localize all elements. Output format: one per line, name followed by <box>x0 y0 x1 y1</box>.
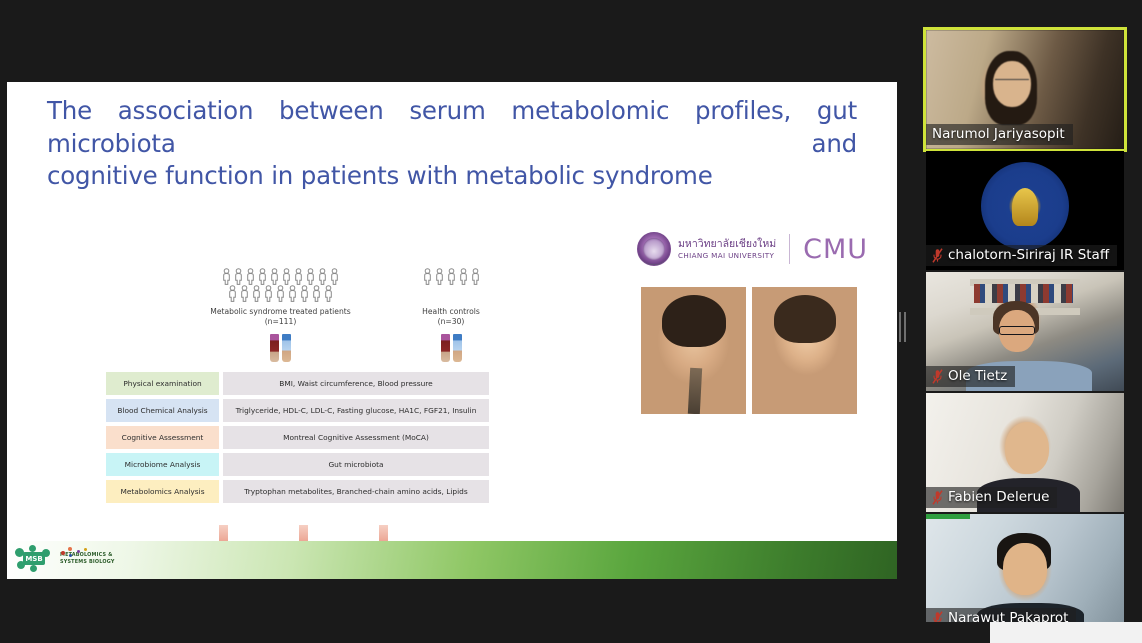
participant-name: chalotorn-Siriraj IR Staff <box>948 247 1109 263</box>
siriraj-seal-icon <box>981 162 1069 250</box>
slide-title: The association between serum metabolomi… <box>47 95 857 193</box>
bottom-strip <box>760 622 1142 643</box>
people-icons-row-2 <box>203 285 358 302</box>
person-icon <box>257 268 268 285</box>
table-cell-category: Physical examination <box>106 372 219 395</box>
person-icon <box>269 268 280 285</box>
person-icon <box>323 285 334 302</box>
mic-muted-icon <box>932 490 943 505</box>
msb-dots-icon <box>59 547 89 557</box>
participant-tile-narawut-pakaprot[interactable]: Narawut Pakaprot <box>926 514 1124 633</box>
nameplate: Narumol Jariyasopit <box>926 124 1073 145</box>
table-cell-category: Microbiome Analysis <box>106 453 219 476</box>
person-icon <box>263 285 274 302</box>
cohort-metabolic-syndrome: Metabolic syndrome treated patients (n=1… <box>203 268 358 362</box>
table-cell-category: Metabolomics Analysis <box>106 480 219 503</box>
cohort-name: Health controls <box>422 307 480 316</box>
table-row: Metabolomics AnalysisTryptophan metaboli… <box>106 480 489 503</box>
portrait-photo-2 <box>752 287 857 414</box>
mic-muted-icon <box>932 248 943 263</box>
person-icon <box>311 285 322 302</box>
cohort-label: Metabolic syndrome treated patients (n=1… <box>203 307 358 328</box>
msb-molecule-icon: MSB <box>15 545 57 573</box>
cohort-count: (n=111) <box>265 317 297 326</box>
participant-tile-ole-tietz[interactable]: Ole Tietz <box>926 272 1124 391</box>
blood-tube-icons <box>411 334 491 362</box>
person-icon <box>317 268 328 285</box>
mic-muted-icon <box>932 369 943 384</box>
msb-line-2: SYSTEMS BIOLOGY <box>60 559 115 566</box>
msb-badge: MSB <box>23 552 45 565</box>
person-icon <box>227 285 238 302</box>
blood-tube-icons <box>203 334 358 362</box>
person-icon <box>470 268 481 285</box>
cmu-thai-name: มหาวิทยาลัยเชียงใหม่ <box>678 238 776 250</box>
presentation-slide: The association between serum metabolomi… <box>7 82 897 579</box>
table-row: Microbiome AnalysisGut microbiota <box>106 453 489 476</box>
researcher-portraits <box>641 287 857 414</box>
portrait-2-hair <box>774 295 836 343</box>
person-icon <box>299 285 310 302</box>
cohort-label: Health controls (n=30) <box>411 307 491 328</box>
people-icons-row-1 <box>411 268 491 285</box>
participant-name: Fabien Delerue <box>948 489 1049 505</box>
video-conference-window: The association between serum metabolomi… <box>0 0 1142 643</box>
slide-footer-bar: MSB METABOLOMICS & SYSTEMS BIOLOGY <box>7 541 897 579</box>
portrait-1-hair <box>662 295 726 347</box>
nameplate: Ole Tietz <box>926 366 1015 387</box>
table-cell-value: Gut microbiota <box>223 453 489 476</box>
bottom-strip-dark-block <box>760 622 990 643</box>
participant-strip[interactable]: Narumol Jariyasopit chalotorn-Siriraj IR… <box>926 30 1126 635</box>
person-icon <box>422 268 433 285</box>
table-row: Cognitive AssessmentMontreal Cognitive A… <box>106 426 489 449</box>
participant-tile-narumol-jariyasopit[interactable]: Narumol Jariyasopit <box>926 30 1124 149</box>
participant-name: Ole Tietz <box>948 368 1007 384</box>
table-cell-value: Triglyceride, HDL-C, LDL-C, Fasting gluc… <box>223 399 489 422</box>
cmu-logo: มหาวิทยาลัยเชียงใหม่ CHIANG MAI UNIVERSI… <box>637 232 868 266</box>
person-icon <box>329 268 340 285</box>
person-icon <box>239 285 250 302</box>
cmu-abbreviation: CMU <box>803 234 868 265</box>
blood-tube-blue-icon <box>453 334 462 362</box>
table-cell-category: Cognitive Assessment <box>106 426 219 449</box>
person-icon <box>305 268 316 285</box>
table-row: Blood Chemical AnalysisTriglyceride, HDL… <box>106 399 489 422</box>
table-cell-value: Montreal Cognitive Assessment (MoCA) <box>223 426 489 449</box>
participant-name: Narumol Jariyasopit <box>932 126 1065 142</box>
participant-tile-chalotorn-siriraj-ir-staff[interactable]: chalotorn-Siriraj IR Staff <box>926 151 1124 270</box>
blood-tube-blue-icon <box>282 334 291 362</box>
nameplate: chalotorn-Siriraj IR Staff <box>926 245 1117 266</box>
drag-handle-icon[interactable] <box>897 310 907 344</box>
cmu-seal-icon <box>637 232 671 266</box>
cohort-count: (n=30) <box>438 317 465 326</box>
person-icon <box>233 268 244 285</box>
blood-tube-purple-icon <box>441 334 450 362</box>
table-row: Physical examinationBMI, Waist circumfer… <box>106 372 489 395</box>
person-icon <box>281 268 292 285</box>
person-icon <box>221 268 232 285</box>
people-icons-row-1 <box>203 268 358 285</box>
cohort-health-controls: Health controls (n=30) <box>411 268 491 362</box>
person-icon <box>458 268 469 285</box>
cmu-wordmark: มหาวิทยาลัยเชียงใหม่ CHIANG MAI UNIVERSI… <box>678 238 776 259</box>
person-icon <box>446 268 457 285</box>
table-cell-value: BMI, Waist circumference, Blood pressure <box>223 372 489 395</box>
table-cell-value: Tryptophan metabolites, Branched-chain a… <box>223 480 489 503</box>
shared-screen-region[interactable]: The association between serum metabolomi… <box>7 82 897 579</box>
table-cell-category: Blood Chemical Analysis <box>106 399 219 422</box>
person-icon <box>434 268 445 285</box>
person-icon <box>293 268 304 285</box>
msb-logo: MSB METABOLOMICS & SYSTEMS BIOLOGY <box>15 545 115 573</box>
nameplate: Fabien Delerue <box>926 487 1057 508</box>
person-icon <box>251 285 262 302</box>
participant-tile-fabien-delerue[interactable]: Fabien Delerue <box>926 393 1124 512</box>
person-icon <box>287 285 298 302</box>
blood-tube-purple-icon <box>270 334 279 362</box>
analysis-table: Physical examinationBMI, Waist circumfer… <box>106 372 489 507</box>
person-icon <box>275 285 286 302</box>
cohort-name: Metabolic syndrome treated patients <box>210 307 350 316</box>
portrait-photo-1 <box>641 287 746 414</box>
person-icon <box>245 268 256 285</box>
slide-title-line-1: The association between serum metabolomi… <box>47 95 857 160</box>
cmu-logo-divider <box>789 234 790 264</box>
slide-title-line-2: cognitive function in patients with meta… <box>47 160 857 193</box>
cmu-english-name: CHIANG MAI UNIVERSITY <box>678 251 776 260</box>
